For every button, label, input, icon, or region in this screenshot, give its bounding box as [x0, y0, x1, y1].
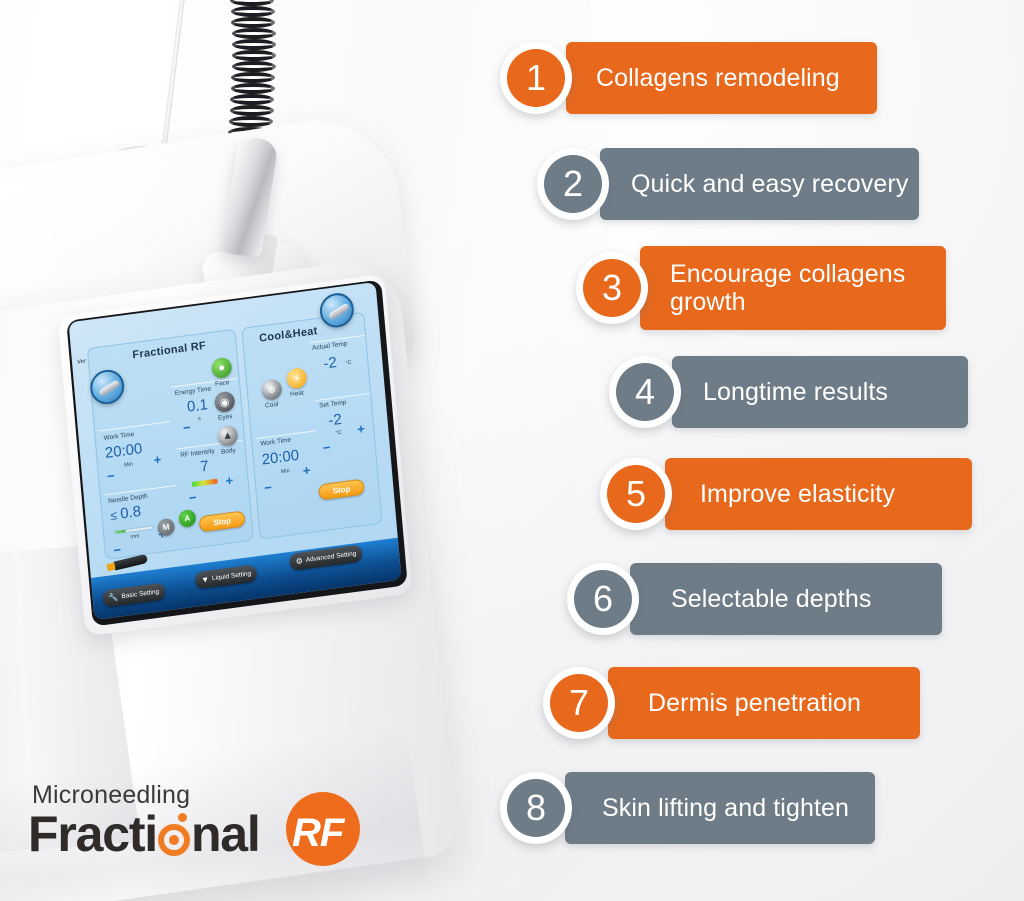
feature-item-3[interactable]: Encourage collagens growth3 — [0, 246, 1024, 330]
set-temp-unit: °C — [335, 430, 342, 437]
feature-label: Collagens remodeling — [596, 42, 867, 114]
cable-coil-segment — [232, 28, 276, 39]
feature-number-badge: 5 — [600, 458, 672, 530]
infographic-canvas: Ver : 1.0 Fractional RF Work Time 20:00 … — [0, 0, 1024, 901]
set-temp-minus-button[interactable]: − — [322, 440, 331, 456]
feature-item-6[interactable]: Selectable depths6 — [0, 563, 1024, 635]
feature-item-1[interactable]: Collagens remodeling1 — [0, 42, 1024, 114]
feature-label: Selectable depths — [671, 563, 932, 635]
actual-temp-label: Actual Temp — [312, 340, 348, 352]
advanced-setting-label: Advanced Setting — [306, 550, 357, 564]
work-time-label: Work Time — [103, 431, 134, 442]
feature-number: 6 — [574, 570, 632, 628]
feature-number-badge: 4 — [609, 356, 681, 428]
feature-label: Quick and easy recovery — [631, 148, 909, 220]
feature-number-badge: 6 — [567, 563, 639, 635]
feature-number: 2 — [544, 155, 602, 213]
feature-item-4[interactable]: Longtime results4 — [0, 356, 1024, 428]
feature-number-badge: 3 — [576, 252, 648, 324]
feature-label: Improve elasticity — [700, 458, 962, 530]
work-time-label-right: Work Time — [260, 437, 291, 448]
feature-number-badge: 8 — [500, 772, 572, 844]
feature-label: Encourage collagens growth — [670, 246, 936, 330]
needle-depth-minus-button[interactable]: − — [113, 542, 122, 558]
feature-number-badge: 7 — [543, 667, 615, 739]
feature-number: 1 — [507, 49, 565, 107]
needle-depth-unit: mm — [130, 533, 140, 540]
feature-number: 5 — [607, 465, 665, 523]
feature-number: 4 — [616, 363, 674, 421]
cable-coil-segment — [229, 116, 273, 127]
cable-coil-segment — [231, 6, 275, 17]
feature-number-badge: 1 — [500, 42, 572, 114]
feature-item-7[interactable]: Dermis penetration7 — [0, 667, 1024, 739]
feature-label: Skin lifting and tighten — [602, 772, 865, 844]
feature-number-badge: 2 — [537, 148, 609, 220]
feature-item-8[interactable]: Skin lifting and tighten8 — [0, 772, 1024, 844]
feature-item-2[interactable]: Quick and easy recovery2 — [0, 148, 1024, 220]
cable-coil-segment — [231, 17, 275, 28]
feature-item-5[interactable]: Improve elasticity5 — [0, 458, 1024, 530]
feature-label: Dermis penetration — [648, 667, 910, 739]
feature-number: 7 — [550, 674, 608, 732]
feature-label: Longtime results — [703, 356, 958, 428]
feature-number: 8 — [507, 779, 565, 837]
feature-number: 3 — [583, 259, 641, 317]
